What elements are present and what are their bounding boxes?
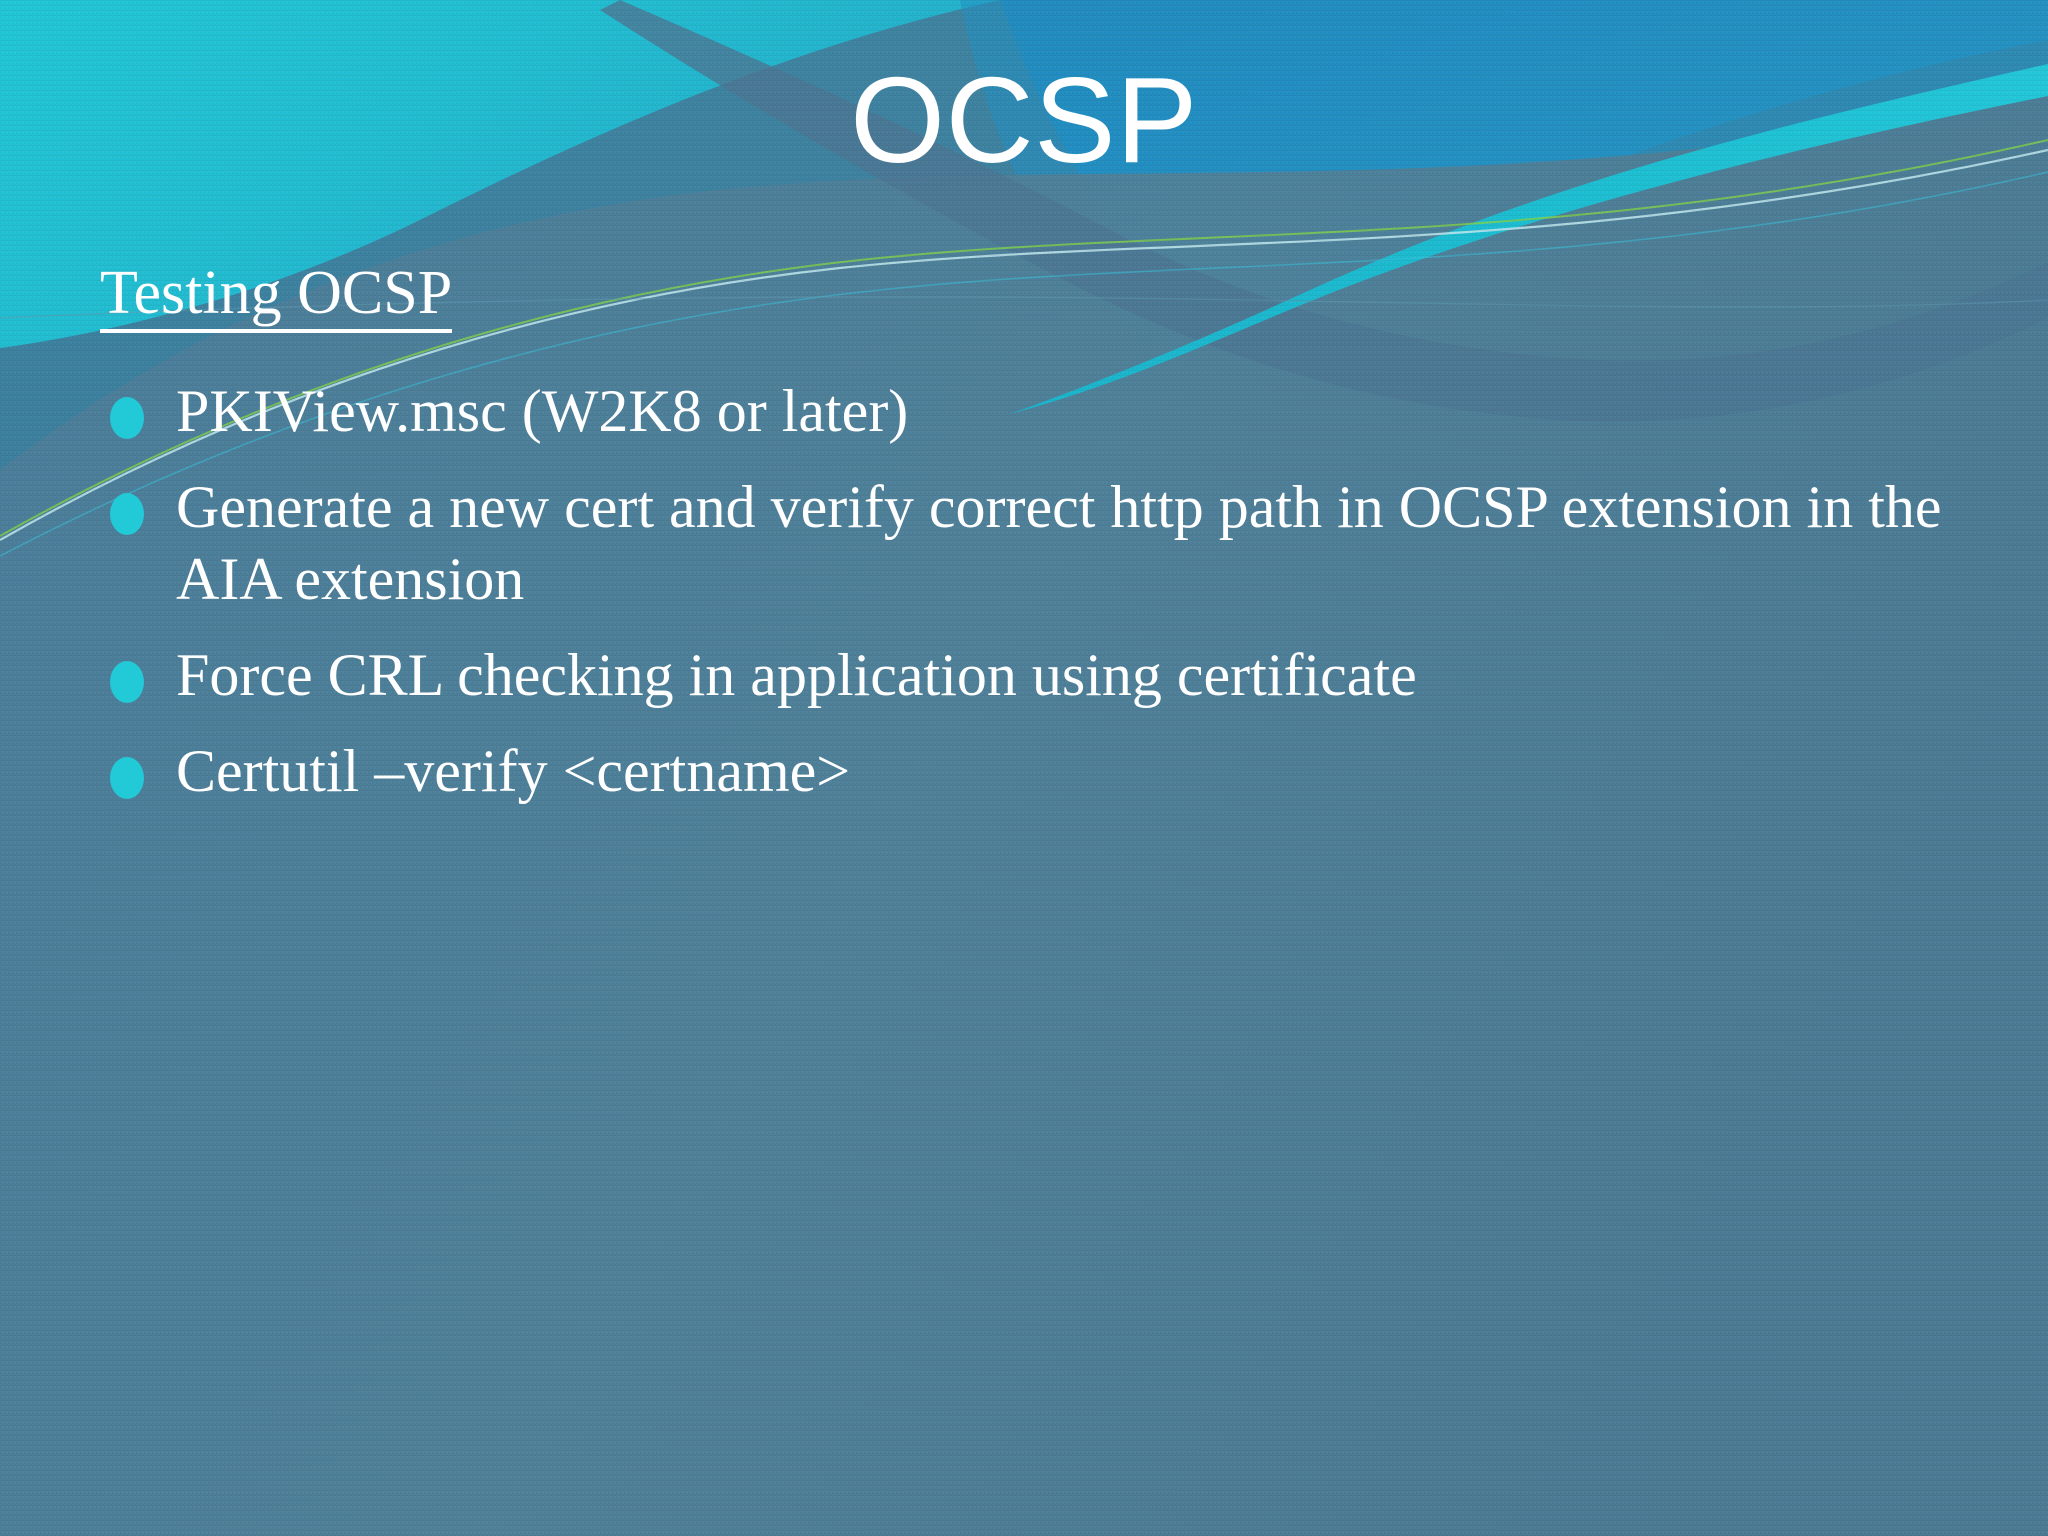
- bullet-text: Certutil –verify <certname>: [176, 735, 1960, 807]
- slide-body: Testing OCSP PKIView.msc (W2K8 or later)…: [100, 262, 1960, 831]
- slide-content: OCSP Testing OCSP PKIView.msc (W2K8 or l…: [0, 0, 2048, 1536]
- bullet-text: PKIView.msc (W2K8 or later): [176, 375, 1960, 447]
- bullet-dot-icon: [110, 493, 144, 535]
- list-item: Certutil –verify <certname>: [100, 735, 1960, 807]
- list-item: PKIView.msc (W2K8 or later): [100, 375, 1960, 447]
- bullet-text: Force CRL checking in application using …: [176, 639, 1960, 711]
- list-item: Generate a new cert and verify correct h…: [100, 471, 1960, 615]
- bullet-dot-icon: [110, 661, 144, 703]
- list-item: Force CRL checking in application using …: [100, 639, 1960, 711]
- section-heading: Testing OCSP: [100, 262, 452, 333]
- bullet-dot-icon: [110, 757, 144, 799]
- page-title: OCSP: [0, 56, 2048, 184]
- bullet-dot-icon: [110, 397, 144, 439]
- presentation-slide: OCSP Testing OCSP PKIView.msc (W2K8 or l…: [0, 0, 2048, 1536]
- bullet-list: PKIView.msc (W2K8 or later) Generate a n…: [100, 375, 1960, 807]
- bullet-text: Generate a new cert and verify correct h…: [176, 471, 1960, 615]
